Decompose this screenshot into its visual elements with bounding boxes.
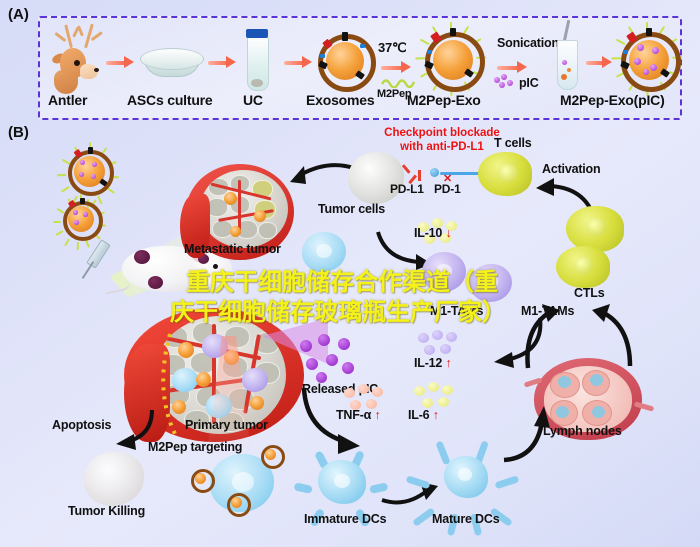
- peptide-squiggle-icon: [381, 76, 417, 88]
- tumor-killing-label: Tumor Killing: [68, 504, 145, 518]
- free-exosome-icon-1: [62, 144, 120, 202]
- il12-cytokine-label: IL-12 ↑: [414, 356, 452, 370]
- arrow-apoptosis: [108, 408, 160, 452]
- il12-cytokine-dots: [418, 330, 462, 358]
- immature-dcs-label: Immature DCs: [304, 512, 386, 526]
- pd1-ligand-icon: [430, 168, 439, 177]
- tumor-cell-icon: [348, 152, 404, 204]
- sonication-tube-icon: [552, 34, 582, 92]
- tnfa-cytokine-label: TNF-α ↑: [336, 408, 381, 422]
- pic-dots-icon: [494, 74, 516, 88]
- peptide-exosome-icon: [416, 24, 488, 96]
- panel-a-tag: (A): [8, 6, 29, 23]
- targeting-exosome-3: [226, 492, 248, 514]
- metastatic-tumor-label: Metastatic tumor: [184, 242, 281, 256]
- step-label-m2pep-exo-pic: M2Pep-Exo(pIC): [560, 92, 665, 108]
- step-label-asc: ASCs culture: [127, 92, 213, 108]
- il10-trend-icon: ↓: [445, 226, 451, 240]
- il6-cytokine-label: IL-6 ↑: [408, 408, 439, 422]
- pdl1-label: PD-L1: [390, 182, 424, 196]
- mature-dcs-label: Mature DCs: [432, 512, 499, 526]
- process-arrow-1: [106, 58, 134, 67]
- process-arrow-2: [208, 58, 236, 67]
- apoptotic-cell-icon: [84, 452, 144, 506]
- step-label-uc: UC: [243, 92, 263, 108]
- il6-name: IL-6: [408, 408, 429, 422]
- t-cells-label: T cells: [494, 136, 532, 150]
- arrow-tumorcells-to-metastatic: [272, 158, 358, 200]
- step-label-m2pep-exo: M2Pep-Exo: [407, 92, 481, 108]
- process-arrow-3: [284, 58, 312, 67]
- process-arrow-6: [586, 58, 612, 67]
- primary-tumor-label: Primary tumor: [185, 418, 268, 432]
- process-arrow-5: [497, 63, 527, 72]
- centrifuge-tube-icon: [242, 29, 274, 91]
- temperature-condition: 37℃: [378, 40, 406, 56]
- activation-label: Activation: [542, 162, 600, 176]
- step-label-antler: Antler: [48, 92, 87, 108]
- tnfa-trend-icon: ↑: [374, 408, 380, 422]
- targeting-exosome-1: [190, 468, 212, 490]
- ctls-label: CTLs: [574, 286, 604, 300]
- tnfa-name: TNF-α: [336, 408, 371, 422]
- m2pep-targeting-label: M2Pep targeting: [148, 440, 242, 454]
- process-arrow-4: [381, 63, 411, 72]
- lymph-nodes-label: Lymph nodes: [543, 424, 622, 438]
- sonication-condition: Sonication: [497, 36, 559, 50]
- pd1-label: PD-1: [434, 182, 461, 196]
- petri-dish-icon: [140, 48, 202, 78]
- watermark-line-2: 庆干细胞储存玻璃瓶生产厂家）: [170, 292, 506, 327]
- il12-name: IL-12: [414, 356, 442, 370]
- pic-condition: pIC: [519, 76, 539, 90]
- arrow-dc-to-lymph: [494, 404, 554, 466]
- panel-b-tag: (B): [8, 124, 29, 141]
- step-label-exosomes: Exosomes: [306, 92, 374, 108]
- targeting-exosome-2: [260, 444, 282, 466]
- exosome-icon: [316, 32, 374, 90]
- tumor-cells-label: Tumor cells: [318, 202, 385, 216]
- ctl-icon-1: [566, 206, 624, 252]
- il6-trend-icon: ↑: [433, 408, 439, 422]
- scientific-figure: (A) Antler ASCs culture UC: [0, 0, 700, 547]
- immature-dc-icon: [304, 446, 384, 518]
- ctl-icon-2: [556, 246, 610, 288]
- loaded-exosome-icon: [612, 24, 684, 96]
- released-pic-dots: [300, 334, 356, 382]
- il12-trend-icon: ↑: [445, 356, 451, 370]
- apoptosis-label: Apoptosis: [52, 418, 111, 432]
